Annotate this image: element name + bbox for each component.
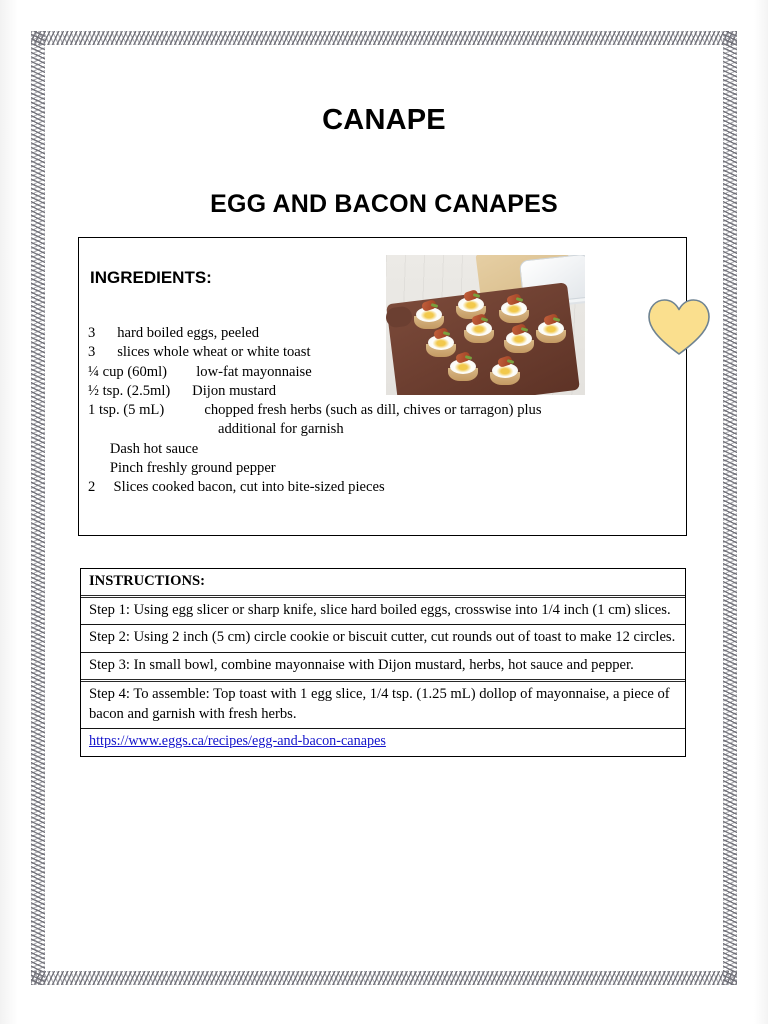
photo-canape (464, 317, 494, 343)
recipe-title: EGG AND BACON CANAPES (0, 190, 768, 219)
document-page: CANAPE EGG AND BACON CANAPES INGREDIENTS… (0, 0, 768, 1024)
recipe-photo (386, 255, 585, 395)
instruction-step: Step 1: Using egg slicer or sharp knife,… (81, 598, 685, 626)
art-border-bottom (31, 971, 737, 985)
photo-canape (536, 317, 566, 343)
ingredient-item-continuation: additional for garnish (88, 420, 648, 439)
photo-canape (499, 297, 529, 323)
photo-canape (414, 303, 444, 329)
photo-canape (448, 355, 478, 381)
photo-canape (490, 359, 520, 385)
ingredient-item: 2 Slices cooked bacon, cut into bite-siz… (88, 478, 648, 497)
instruction-step: Step 2: Using 2 inch (5 cm) circle cooki… (81, 625, 685, 653)
heart-icon (645, 294, 713, 358)
page-left-edge-shading (0, 0, 18, 1024)
photo-canape (504, 327, 534, 353)
ingredient-item: 1 tsp. (5 mL) chopped fresh herbs (such … (88, 401, 648, 420)
ingredients-heading: INGREDIENTS: (90, 268, 212, 288)
instructions-table: INSTRUCTIONS: Step 1: Using egg slicer o… (80, 568, 686, 757)
source-url-link[interactable]: https://www.eggs.ca/recipes/egg-and-baco… (89, 733, 386, 749)
instructions-heading: INSTRUCTIONS: (81, 569, 685, 598)
instruction-step: Step 4: To assemble: Top toast with 1 eg… (81, 682, 685, 729)
art-border-right (723, 31, 737, 985)
instruction-step: Step 3: In small bowl, combine mayonnais… (81, 653, 685, 683)
page-right-edge-shading (754, 0, 768, 1024)
art-border-left (31, 31, 45, 985)
photo-canape (426, 331, 456, 357)
art-border-top (31, 31, 737, 45)
page-title: CANAPE (0, 104, 768, 137)
ingredient-item: Pinch freshly ground pepper (88, 459, 648, 478)
ingredient-item: Dash hot sauce (88, 440, 648, 459)
source-link-row[interactable]: https://www.eggs.ca/recipes/egg-and-baco… (81, 729, 685, 756)
